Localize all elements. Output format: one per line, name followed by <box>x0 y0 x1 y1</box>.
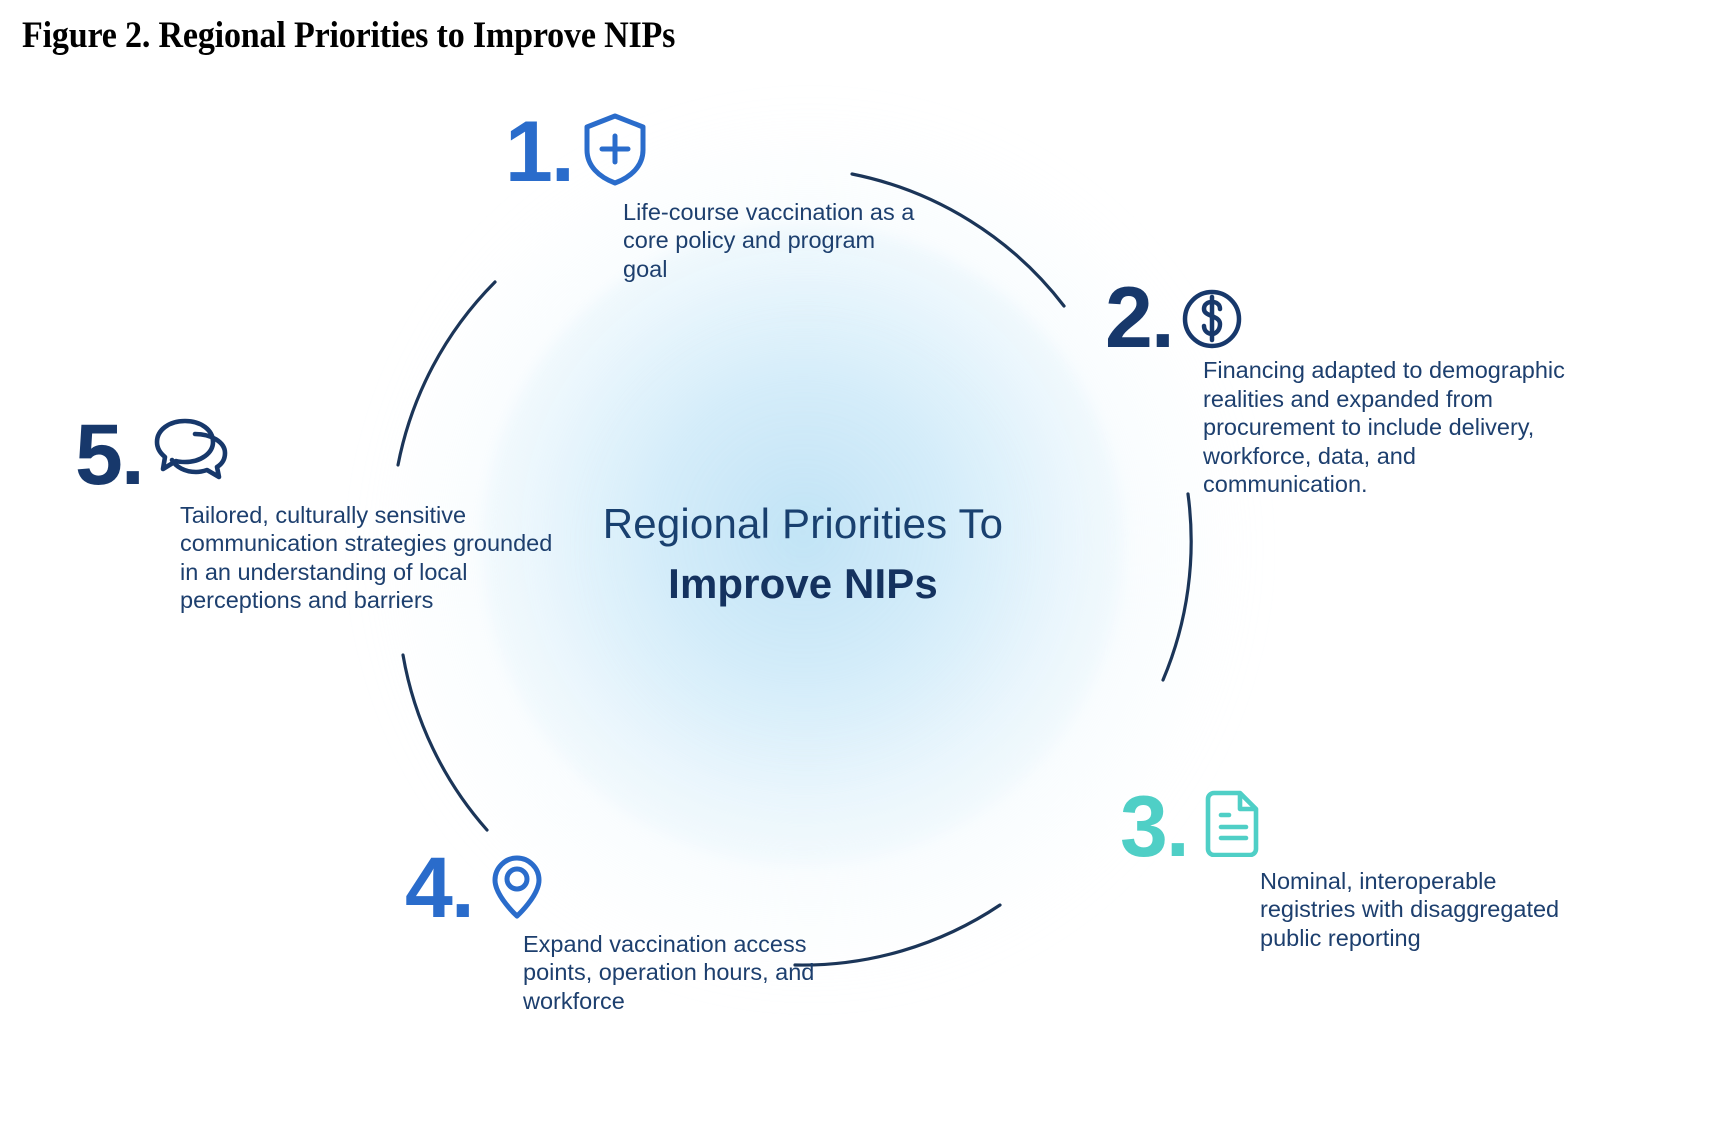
arc-4-to-5 <box>403 655 487 830</box>
priority-2-head: 2. <box>1105 282 1583 354</box>
priority-item-4: 4. Expand vaccination access points, ope… <box>405 850 853 1015</box>
priority-4-text: Expand vaccination access points, operat… <box>523 930 853 1015</box>
center-label-line-2: Improve NIPs <box>483 560 1123 608</box>
speech-bubbles-icon <box>149 415 233 481</box>
priority-4-number: 4. <box>405 852 473 924</box>
priority-2-text: Financing adapted to demographic realiti… <box>1203 356 1583 498</box>
priority-1-number: 1. <box>505 116 573 188</box>
priority-3-number: 3. <box>1120 791 1188 863</box>
dollar-circle-icon <box>1179 284 1245 354</box>
priority-4-head: 4. <box>405 850 853 924</box>
priority-1-text: Life-course vaccination as a core policy… <box>623 198 923 283</box>
priority-3-head: 3. <box>1120 785 1560 863</box>
map-pin-icon <box>485 850 549 924</box>
page-title: Figure 2. Regional Priorities to Improve… <box>22 14 675 57</box>
priority-item-3: 3. Nominal, interoperable registries wit… <box>1120 785 1560 952</box>
shield-plus-icon <box>579 110 651 188</box>
priority-2-number: 2. <box>1105 282 1173 354</box>
arc-2-to-3 <box>1163 494 1191 680</box>
priority-5-number: 5. <box>75 419 143 491</box>
priorities-wheel-diagram: 1. Life-course vaccination as a core pol… <box>0 60 1734 1130</box>
priority-1-head: 1. <box>505 110 923 188</box>
priority-5-head: 5. <box>75 415 560 491</box>
priority-3-text: Nominal, interoperable registries with d… <box>1260 867 1560 952</box>
priority-item-1: 1. Life-course vaccination as a core pol… <box>505 110 923 283</box>
center-label: Regional Priorities To Improve NIPs <box>483 500 1123 608</box>
priority-item-2: 2. Financing adapted to demographic real… <box>1105 282 1583 498</box>
center-label-line-1: Regional Priorities To <box>483 500 1123 548</box>
document-icon <box>1204 785 1266 857</box>
